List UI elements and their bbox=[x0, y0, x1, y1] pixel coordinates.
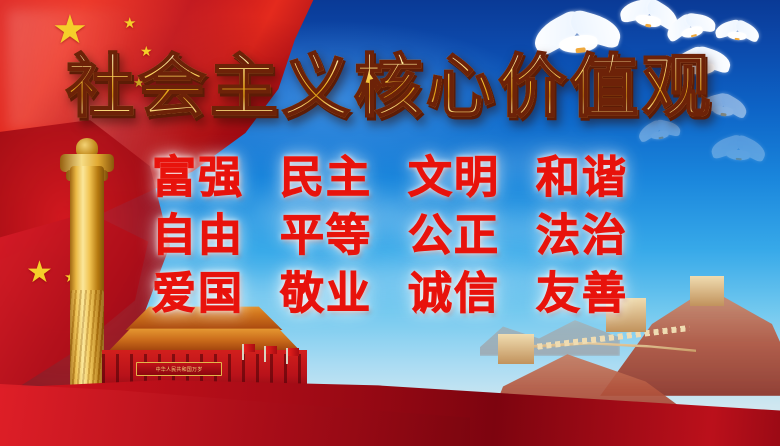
flag-star-small: ★ bbox=[123, 16, 136, 31]
core-values-rows: 富强 民主 文明 和谐 自由 平等 公正 法治 爱国 敬业 诚信 友善 bbox=[0, 155, 780, 330]
value-word: 敬业 bbox=[280, 271, 372, 317]
value-word: 文明 bbox=[408, 155, 500, 201]
value-word: 自由 bbox=[152, 213, 244, 259]
gate-red-flag bbox=[244, 344, 255, 352]
peace-dove bbox=[665, 11, 719, 54]
value-word: 法治 bbox=[536, 213, 628, 259]
value-word: 平等 bbox=[280, 213, 372, 259]
value-word: 爱国 bbox=[152, 271, 244, 317]
gate-banner: 中华人民共和国万岁 bbox=[136, 362, 222, 376]
gate-red-flag bbox=[266, 346, 277, 354]
value-word: 和谐 bbox=[536, 155, 628, 201]
wall-watchtower bbox=[498, 334, 534, 364]
values-row: 爱国 敬业 诚信 友善 bbox=[0, 271, 780, 317]
value-word: 富强 bbox=[152, 155, 244, 201]
peace-dove bbox=[715, 20, 760, 52]
value-word: 诚信 bbox=[408, 271, 500, 317]
values-row: 自由 平等 公正 法治 bbox=[0, 213, 780, 259]
peace-dove bbox=[617, 0, 679, 45]
flag-star-large: ★ bbox=[52, 10, 88, 50]
values-row: 富强 民主 文明 和谐 bbox=[0, 155, 780, 201]
value-word: 民主 bbox=[280, 155, 372, 201]
value-word: 公正 bbox=[408, 213, 500, 259]
value-word: 友善 bbox=[536, 271, 628, 317]
poster-title: 社会主义核心价值观 bbox=[0, 54, 780, 122]
gate-red-flag bbox=[288, 348, 299, 356]
poster-canvas: ★ ★ ★ ★ ★ ★ ★ ★ 中华人民共和国万岁 bbox=[0, 0, 780, 446]
